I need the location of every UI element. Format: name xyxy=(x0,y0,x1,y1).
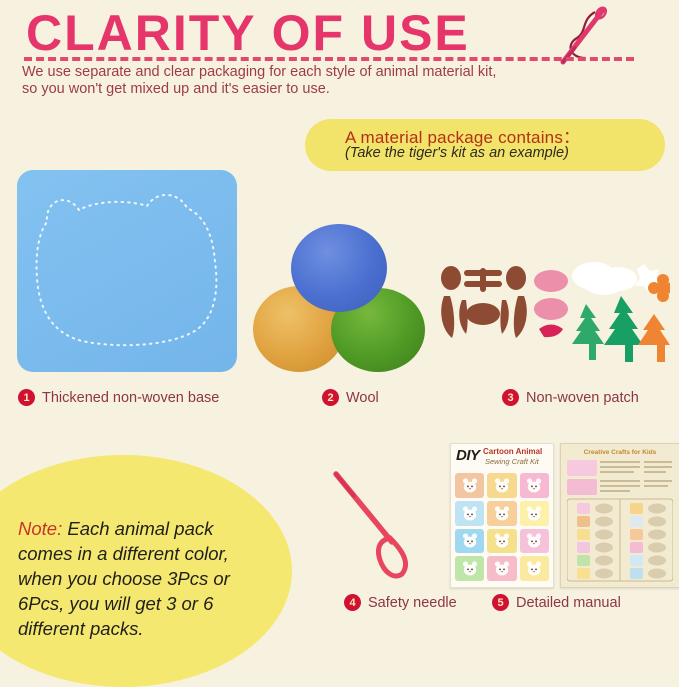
manual-shape xyxy=(595,543,613,553)
bag-animal-tile-panda xyxy=(455,501,484,526)
item-label-3: 3 Non-woven patch xyxy=(502,389,639,406)
manual-shape xyxy=(595,504,613,514)
manual-swatch xyxy=(630,529,643,540)
packaging-bag-image: DIY Cartoon Animal Sewing Craft Kit xyxy=(450,443,554,588)
item-badge-1: 1 xyxy=(18,389,35,406)
bag-line-1: Cartoon Animal xyxy=(483,447,542,456)
callout-subtitle: (Take the tiger's kit as an example) xyxy=(345,145,569,161)
pompom-blue xyxy=(291,224,387,312)
item-label-text-5: Detailed manual xyxy=(516,595,621,611)
bag-animal-tile-lion xyxy=(455,473,484,498)
subtitle-line-1: We use separate and clear packaging for … xyxy=(22,64,582,81)
item-label-text-2: Wool xyxy=(346,390,379,406)
header-subtitle: We use separate and clear packaging for … xyxy=(22,64,582,98)
infographic-page: CLARITY OF USE We use separate and clear… xyxy=(0,0,679,679)
bag-animal-tile-pig xyxy=(487,556,516,581)
manual-shape xyxy=(648,517,666,527)
manual-shape xyxy=(648,569,666,579)
bag-animal-tile-cat xyxy=(520,473,549,498)
item-badge-2: 2 xyxy=(322,389,339,406)
item-badge-3: 3 xyxy=(502,389,519,406)
item-label-text-3: Non-woven patch xyxy=(526,390,639,406)
bag-animal-tile-lion xyxy=(487,529,516,554)
manual-title: Creative Crafts for Kids xyxy=(584,449,657,456)
instruction-manual-image: Creative Crafts for Kids xyxy=(560,443,679,588)
bag-animal-tile-duck xyxy=(520,556,549,581)
note-text: Note: Each animal pack comes in a differ… xyxy=(18,516,240,641)
bag-animal-tile-rabbit xyxy=(520,529,549,554)
perforation-outline xyxy=(17,170,237,372)
bag-animal-tile-hippo xyxy=(455,529,484,554)
item-label-4: 4 Safety needle xyxy=(344,594,457,611)
item-label-5: 5 Detailed manual xyxy=(492,594,621,611)
title-divider xyxy=(24,57,634,61)
manual-body xyxy=(567,458,673,582)
item-badge-5: 5 xyxy=(492,594,509,611)
bag-animal-tile-tiger xyxy=(487,473,516,498)
material-package-callout: A material package contains： (Take the t… xyxy=(305,119,665,171)
manual-swatch xyxy=(630,568,643,579)
manual-shape xyxy=(595,530,613,540)
manual-swatch xyxy=(577,542,590,553)
manual-shape xyxy=(648,530,666,540)
item-label-text-4: Safety needle xyxy=(368,595,457,611)
subtitle-line-2: so you won't get mixed up and it's easie… xyxy=(22,81,582,98)
manual-swatch xyxy=(577,503,590,514)
item-label-2: 2 Wool xyxy=(322,389,379,406)
bag-animal-grid xyxy=(455,473,549,581)
manual-shape xyxy=(648,543,666,553)
bag-animal-tile-frog xyxy=(455,556,484,581)
bag-header: DIY Cartoon Animal Sewing Craft Kit xyxy=(451,444,553,471)
bag-animal-tile-chick xyxy=(520,501,549,526)
manual-swatch xyxy=(577,516,590,527)
non-woven-base-image xyxy=(17,170,237,372)
manual-shape xyxy=(648,556,666,566)
manual-shape xyxy=(648,504,666,514)
manual-shape xyxy=(595,517,613,527)
manual-swatch xyxy=(577,555,590,566)
manual-swatch xyxy=(630,516,643,527)
manual-shape xyxy=(595,556,613,566)
tiger-face-pieces xyxy=(441,266,527,338)
bag-animal-tile-bear xyxy=(487,501,516,526)
wool-pompoms-image xyxy=(253,224,423,374)
item-badge-4: 4 xyxy=(344,594,361,611)
item-label-text-1: Thickened non-woven base xyxy=(42,390,219,406)
manual-swatch xyxy=(630,503,643,514)
manual-swatch xyxy=(630,542,643,553)
manual-swatch xyxy=(577,568,590,579)
manual-shape xyxy=(595,569,613,579)
felt-patch-pieces-image xyxy=(438,256,670,368)
bag-brand: DIY xyxy=(456,447,480,464)
bag-line-2: Sewing Craft Kit xyxy=(485,457,539,466)
note-keyword: Note: xyxy=(18,518,62,539)
manual-swatch xyxy=(630,555,643,566)
cheek-pieces xyxy=(534,270,568,337)
manual-swatch xyxy=(577,529,590,540)
item-label-1: 1 Thickened non-woven base xyxy=(18,389,219,406)
safety-needle-image xyxy=(330,468,442,584)
